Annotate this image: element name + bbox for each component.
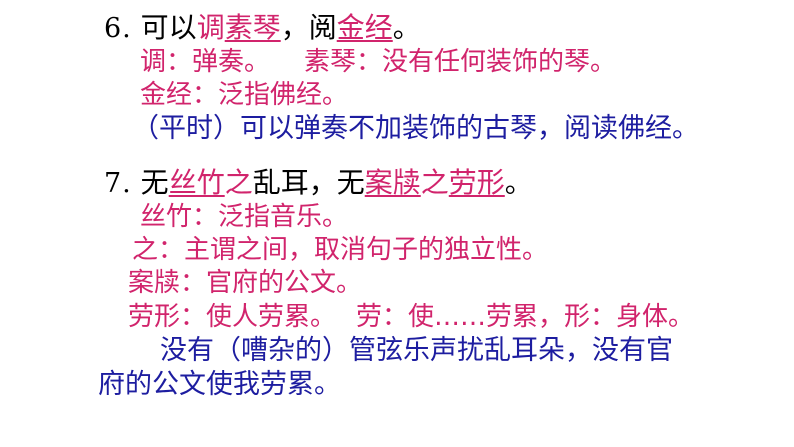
annotation-entry-6: 6. 可以调素琴，阅金经。 调：弹奏。素琴：没有任何装饰的琴。 金经：泛指佛经。… <box>0 10 794 147</box>
quote-seg-6-1: 调 <box>197 11 225 44</box>
quote-line-6: 6. 可以调素琴，阅金经。 <box>0 10 794 46</box>
entry-number-7: 7. <box>104 168 132 199</box>
quote-seg-7-4: 案牍 <box>365 166 421 199</box>
gloss-line-7-4: 劳形：使人劳累。劳：使……劳累，形：身体。 <box>0 301 794 334</box>
quote-seg-7-3: 乱耳，无 <box>253 166 365 199</box>
gloss-line-7-2: 之：主谓之间，取消句子的独立性。 <box>0 234 794 267</box>
gloss-line-7-3: 案牍：官府的公文。 <box>0 267 794 300</box>
quote-seg-7-0: 无 <box>141 166 169 199</box>
quote-seg-7-6: 劳形 <box>449 166 505 199</box>
quote-seg-7-2: 之 <box>225 166 253 199</box>
translation-line-6-1: （平时）可以弹奏不加装饰的古琴，阅读佛经。 <box>0 112 794 147</box>
quote-line-7: 7. 无丝竹之乱耳，无案牍之劳形。 <box>0 165 794 201</box>
gloss-line-6-2: 金经：泛指佛经。 <box>0 79 794 112</box>
quote-seg-7-7: 。 <box>505 166 533 199</box>
quote-seg-6-5: 。 <box>393 11 421 44</box>
quote-seg-6-3: ，阅 <box>281 11 337 44</box>
gloss-line-6-1: 调：弹奏。素琴：没有任何装饰的琴。 <box>0 46 794 79</box>
quote-seg-6-4: 金经 <box>337 11 393 44</box>
quote-seg-7-5: 之 <box>421 166 449 199</box>
quote-seg-6-0: 可以 <box>141 11 197 44</box>
gloss-right-7-4: 劳：使……劳累，形：身体。 <box>356 302 694 332</box>
gloss-left-7-4: 劳形：使人劳累。 <box>128 302 336 332</box>
gloss-line-7-1: 丝竹：泛指音乐。 <box>0 201 794 234</box>
gloss-left-6-2: 金经：泛指佛经。 <box>140 80 348 110</box>
gloss-left-6-1: 调：弹奏。 <box>140 47 270 77</box>
quote-seg-7-1: 丝竹 <box>169 166 225 199</box>
annotation-entry-7: 7. 无丝竹之乱耳，无案牍之劳形。 丝竹：泛指音乐。 之：主谓之间，取消句子的独… <box>0 165 794 403</box>
slide-canvas: 6. 可以调素琴，阅金经。 调：弹奏。素琴：没有任何装饰的琴。 金经：泛指佛经。… <box>0 0 794 447</box>
gloss-right-6-1: 素琴：没有任何装饰的琴。 <box>304 47 616 77</box>
translation-line-7-2: 府的公文使我劳累。 <box>0 368 794 403</box>
translation-line-7-1: 没有（嘈杂的）管弦乐声扰乱耳朵，没有官 <box>0 334 794 369</box>
quote-seg-6-2: 素琴 <box>225 11 281 44</box>
entry-number-6: 6. <box>104 13 132 44</box>
